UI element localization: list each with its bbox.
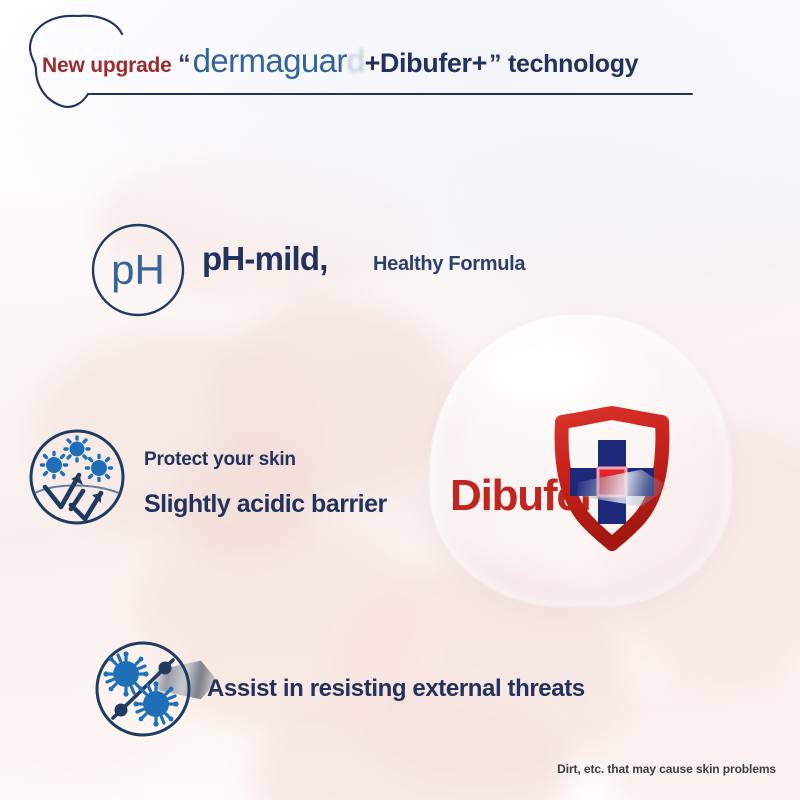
header-brand-plus: +Dibufer+ — [365, 48, 487, 78]
footer-caption: Dirt, etc. that may cause skin problems — [557, 762, 776, 776]
threats-main-line: Assist in resisting external threats — [207, 675, 585, 703]
header-prefix: New upgrade — [42, 54, 172, 77]
no-germs-icon — [93, 639, 193, 739]
ph-subtitle: Healthy Formula — [373, 253, 525, 276]
bubble-highlight — [486, 345, 606, 403]
brand-text: dermaguar — [193, 42, 347, 79]
brand-text-faded: d — [347, 42, 365, 79]
header-brand-name: dermaguard — [193, 42, 365, 79]
deflect-arrows — [45, 475, 101, 519]
virus-lower — [133, 681, 178, 726]
header-suffix: technology — [508, 50, 638, 78]
header-title: New upgrade “dermaguard+Dibufer+” techno… — [42, 44, 638, 77]
barrier-top-line: Protect your skin — [144, 449, 296, 471]
svg-text:pH: pH — [111, 246, 165, 293]
ph-title: pH-mild, — [202, 240, 328, 278]
barrier-main-line: Slightly acidic barrier — [144, 490, 387, 519]
skin-barrier-icon — [27, 427, 127, 527]
header-open-quote: “ — [176, 50, 193, 78]
germ-dots — [42, 437, 112, 481]
product-feature-banner: New upgrade “dermaguard+Dibufer+” techno… — [0, 0, 800, 800]
header-close-quote: ” — [487, 50, 504, 78]
ph-circle-icon: pH — [90, 222, 186, 318]
header-banner: New upgrade “dermaguard+Dibufer+” techno… — [0, 8, 700, 114]
